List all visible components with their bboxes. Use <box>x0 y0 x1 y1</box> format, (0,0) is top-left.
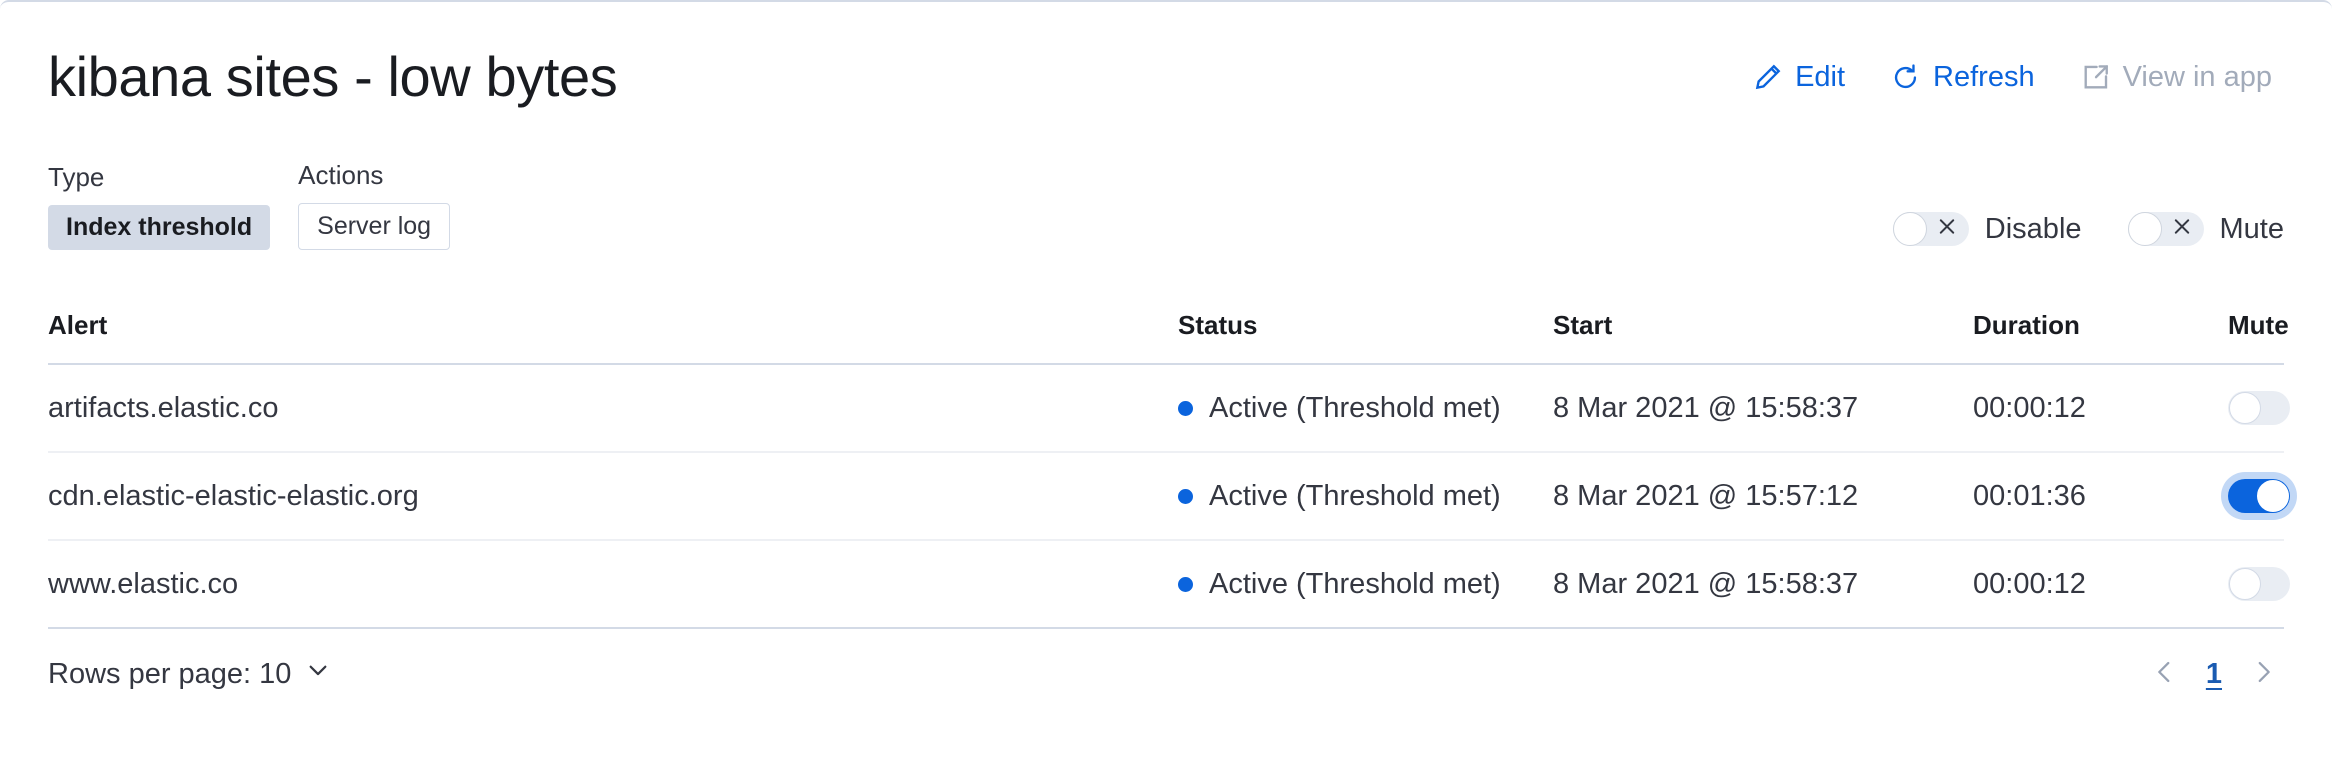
pagination: 1 <box>2152 658 2284 691</box>
status-dot-icon <box>1178 489 1193 504</box>
table-footer: Rows per page: 10 1 <box>0 629 2332 691</box>
cell-duration: 00:00:12 <box>1973 540 2228 628</box>
refresh-button[interactable]: Refresh <box>1891 61 2035 94</box>
alert-details-panel: kibana sites - low bytes Edit <box>0 0 2332 778</box>
cell-status: Active (Threshold met) <box>1178 452 1553 540</box>
type-label: Type <box>48 162 270 193</box>
action-badge-server-log: Server log <box>298 203 450 250</box>
disable-toggle-knob <box>1893 212 1927 246</box>
column-header-duration: Duration <box>1973 310 2228 364</box>
column-header-alert: Alert <box>48 310 1178 364</box>
cell-status: Active (Threshold met) <box>1178 540 1553 628</box>
next-page-button[interactable] <box>2250 659 2276 690</box>
rows-per-page-selector[interactable]: Rows per page: 10 <box>48 657 331 691</box>
cell-duration: 00:01:36 <box>1973 452 2228 540</box>
row-mute-toggle-knob <box>2257 480 2289 512</box>
cell-duration: 00:00:12 <box>1973 364 2228 452</box>
cell-alert: www.elastic.co <box>48 540 1178 628</box>
table-row: www.elastic.co Active (Threshold met) 8 … <box>48 540 2284 628</box>
type-badge: Index threshold <box>48 205 270 250</box>
disable-switch-group: Disable <box>1893 212 2082 250</box>
column-header-status: Status <box>1178 310 1553 364</box>
actions-label: Actions <box>298 160 450 191</box>
cell-status: Active (Threshold met) <box>1178 364 1553 452</box>
status-text: Active (Threshold met) <box>1209 480 1501 513</box>
table-head: Alert Status Start Duration Mute <box>48 310 2284 364</box>
alerts-table: Alert Status Start Duration Mute artifac… <box>48 310 2284 629</box>
disable-label: Disable <box>1985 213 2082 246</box>
mute-toggle-knob <box>2128 212 2162 246</box>
column-header-start: Start <box>1553 310 1973 364</box>
cell-start: 8 Mar 2021 @ 15:58:37 <box>1553 540 1973 628</box>
row-mute-toggle-knob <box>2229 568 2261 600</box>
edit-label: Edit <box>1795 61 1845 94</box>
view-in-app-label: View in app <box>2123 61 2272 94</box>
table-header-row: Alert Status Start Duration Mute <box>48 310 2284 364</box>
mute-switch-group: Mute <box>2128 212 2284 250</box>
view-in-app-button[interactable]: View in app <box>2081 61 2272 94</box>
header-actions: Edit Refresh <box>1753 61 2284 94</box>
alerts-table-wrapper: Alert Status Start Duration Mute artifac… <box>0 250 2332 629</box>
row-mute-toggle[interactable] <box>2228 479 2290 513</box>
row-mute-toggle[interactable] <box>2228 567 2290 601</box>
status-dot-icon <box>1178 577 1193 592</box>
status-text: Active (Threshold met) <box>1209 392 1501 425</box>
actions-group: Actions Server log <box>298 160 450 250</box>
chevron-down-icon <box>305 657 331 691</box>
disable-toggle[interactable] <box>1893 212 1969 246</box>
cell-start: 8 Mar 2021 @ 15:58:37 <box>1553 364 1973 452</box>
external-link-icon <box>2081 63 2110 92</box>
pencil-icon <box>1753 63 1782 92</box>
mute-toggle[interactable] <box>2128 212 2204 246</box>
table-row: artifacts.elastic.co Active (Threshold m… <box>48 364 2284 452</box>
meta-row: Type Index threshold Actions Server log … <box>0 110 2332 250</box>
table-row: cdn.elastic-elastic-elastic.org Active (… <box>48 452 2284 540</box>
previous-page-button[interactable] <box>2152 659 2178 690</box>
refresh-label: Refresh <box>1933 61 2035 94</box>
cell-alert: artifacts.elastic.co <box>48 364 1178 452</box>
mute-label: Mute <box>2220 213 2284 246</box>
refresh-icon <box>1891 63 1920 92</box>
cell-start: 8 Mar 2021 @ 15:57:12 <box>1553 452 1973 540</box>
table-body: artifacts.elastic.co Active (Threshold m… <box>48 364 2284 628</box>
status-dot-icon <box>1178 401 1193 416</box>
page-number-1[interactable]: 1 <box>2206 658 2222 691</box>
cell-mute <box>2228 452 2284 540</box>
cell-mute <box>2228 364 2284 452</box>
rows-per-page-label: Rows per page: 10 <box>48 658 291 691</box>
page-header: kibana sites - low bytes Edit <box>0 2 2332 110</box>
cross-icon <box>1936 216 1958 243</box>
column-header-mute: Mute <box>2228 310 2284 364</box>
status-text: Active (Threshold met) <box>1209 568 1501 601</box>
row-mute-toggle[interactable] <box>2228 391 2290 425</box>
cell-mute <box>2228 540 2284 628</box>
type-group: Type Index threshold <box>48 162 270 250</box>
row-mute-toggle-knob <box>2229 392 2261 424</box>
edit-button[interactable]: Edit <box>1753 61 1845 94</box>
cell-alert: cdn.elastic-elastic-elastic.org <box>48 452 1178 540</box>
page-title: kibana sites - low bytes <box>48 44 617 110</box>
cross-icon <box>2171 216 2193 243</box>
